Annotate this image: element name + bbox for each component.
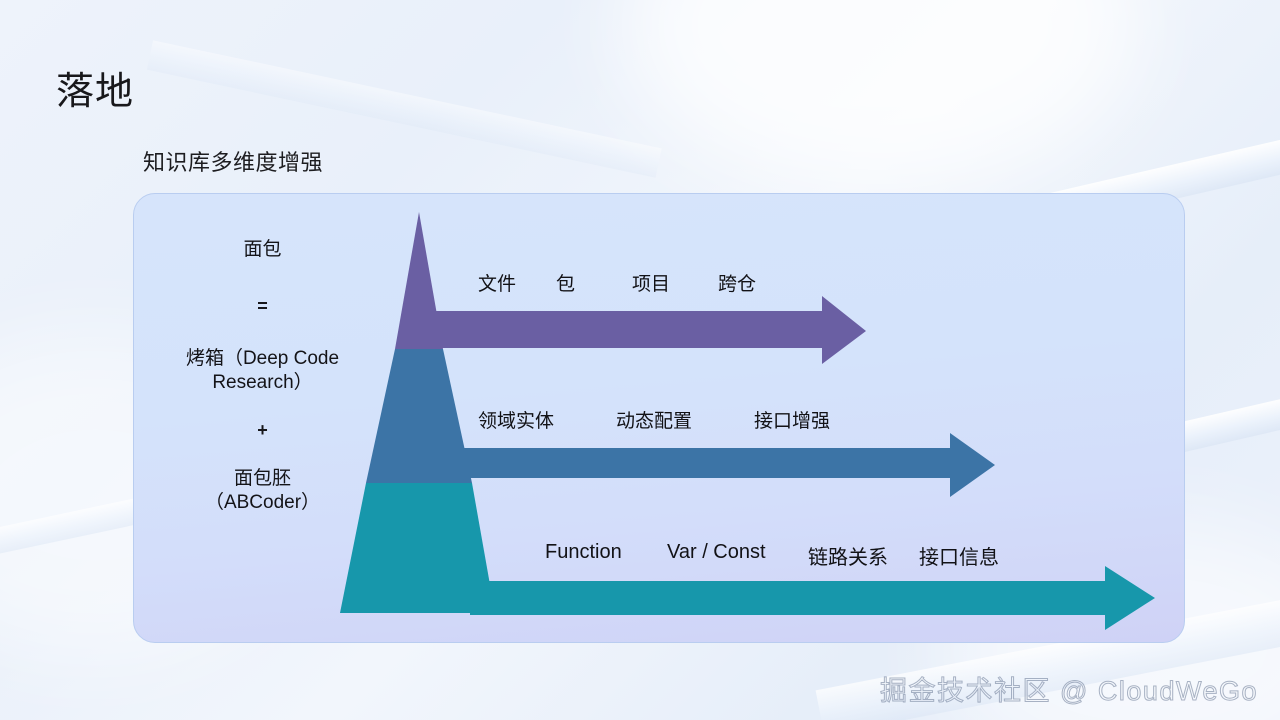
caption-item: 接口信息 [919,541,999,570]
bottom-arrow-captions: Function Var / Const 链路关系 接口信息 [545,541,999,570]
caption-item: 项目 [632,269,718,296]
section-subtitle: 知识库多维度增强 [143,145,323,177]
caption-item: 动态配置 [616,406,754,433]
formula-bottom-label-line2: （ABCoder） [155,491,370,515]
caption-item: 跨仓 [718,269,756,296]
caption-item: 领域实体 [478,406,616,433]
formula-column: 面包 = 烤箱（Deep Code Research） + 面包胚 （ABCod… [155,238,370,515]
caption-item: Var / Const [667,541,808,570]
watermark: 掘金技术社区 @ CloudWeGo [880,669,1258,708]
formula-middle-label-line2: Research） [155,371,370,395]
formula-middle-label-line1: 烤箱（Deep Code [155,347,370,371]
caption-item: 链路关系 [808,541,919,570]
formula-equals-operator: = [155,296,370,317]
formula-plus-operator: + [155,420,370,441]
caption-item: 接口增强 [754,406,830,433]
caption-item: 包 [556,269,632,296]
caption-item: Function [545,541,667,570]
middle-arrow-captions: 领域实体 动态配置 接口增强 [478,406,830,433]
slide-canvas: 落地 知识库多维度增强 面包 = 烤箱（Deep Code Research） … [0,0,1280,720]
top-arrow-captions: 文件 包 项目 跨仓 [478,269,756,296]
page-title: 落地 [56,72,134,114]
formula-bottom-label-line1: 面包胚 [155,467,370,491]
formula-top-label: 面包 [155,238,370,262]
background-glow [620,0,1140,190]
caption-item: 文件 [478,269,556,296]
